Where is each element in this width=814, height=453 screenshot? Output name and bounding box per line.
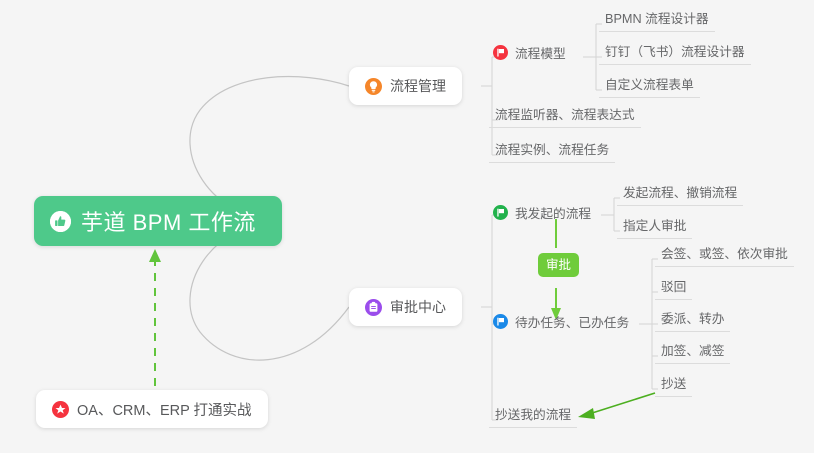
leaf-node[interactable]: 会签、或签、依次审批 — [655, 247, 794, 267]
leaf-node[interactable]: 发起流程、撤销流程 — [617, 186, 743, 206]
star-icon — [52, 401, 69, 418]
subnode-process-model[interactable]: 流程模型 — [493, 43, 566, 62]
mindmap-canvas: 芋道 BPM 工作流 流程管理 流程模型 BPMN 流程设计器 钉钉（飞书）流程… — [0, 0, 814, 453]
leaf-node[interactable]: 钉钉（飞书）流程设计器 — [599, 45, 751, 65]
branch-node-process-management[interactable]: 流程管理 — [349, 67, 462, 105]
flag-icon — [493, 314, 508, 329]
root-node[interactable]: 芋道 BPM 工作流 — [34, 196, 282, 246]
clipboard-icon — [365, 299, 382, 316]
thumbs-up-icon — [50, 211, 71, 232]
root-label: 芋道 BPM 工作流 — [81, 205, 256, 237]
callout-badge-approval: 审批 — [538, 253, 579, 277]
aside-label: OA、CRM、ERP 打通实战 — [77, 399, 252, 420]
flag-icon — [493, 205, 508, 220]
branch-label: 流程管理 — [390, 76, 446, 96]
subnode-label: 流程模型 — [515, 43, 566, 62]
lightbulb-icon — [365, 78, 382, 95]
subnode-label: 待办任务、已办任务 — [515, 312, 629, 331]
leaf-node[interactable]: 指定人审批 — [617, 219, 692, 239]
leaf-node[interactable]: 委派、转办 — [655, 312, 730, 332]
leaf-node[interactable]: BPMN 流程设计器 — [599, 12, 715, 32]
leaf-node[interactable]: 流程监听器、流程表达式 — [489, 108, 641, 128]
leaf-node[interactable]: 驳回 — [655, 280, 692, 300]
leaf-node[interactable]: 抄送我的流程 — [489, 408, 577, 428]
flag-icon — [493, 45, 508, 60]
leaf-node[interactable]: 加签、减签 — [655, 344, 730, 364]
aside-node-integration[interactable]: OA、CRM、ERP 打通实战 — [36, 390, 268, 428]
leaf-node[interactable]: 抄送 — [655, 377, 692, 397]
branch-label: 审批中心 — [390, 297, 446, 317]
leaf-node[interactable]: 自定义流程表单 — [599, 78, 700, 98]
subnode-todo-done-tasks[interactable]: 待办任务、已办任务 — [493, 312, 629, 331]
leaf-node[interactable]: 流程实例、流程任务 — [489, 143, 615, 163]
branch-node-approval-center[interactable]: 审批中心 — [349, 288, 462, 326]
subnode-my-initiated-processes[interactable]: 我发起的流程 — [493, 203, 591, 222]
subnode-label: 我发起的流程 — [515, 203, 591, 222]
